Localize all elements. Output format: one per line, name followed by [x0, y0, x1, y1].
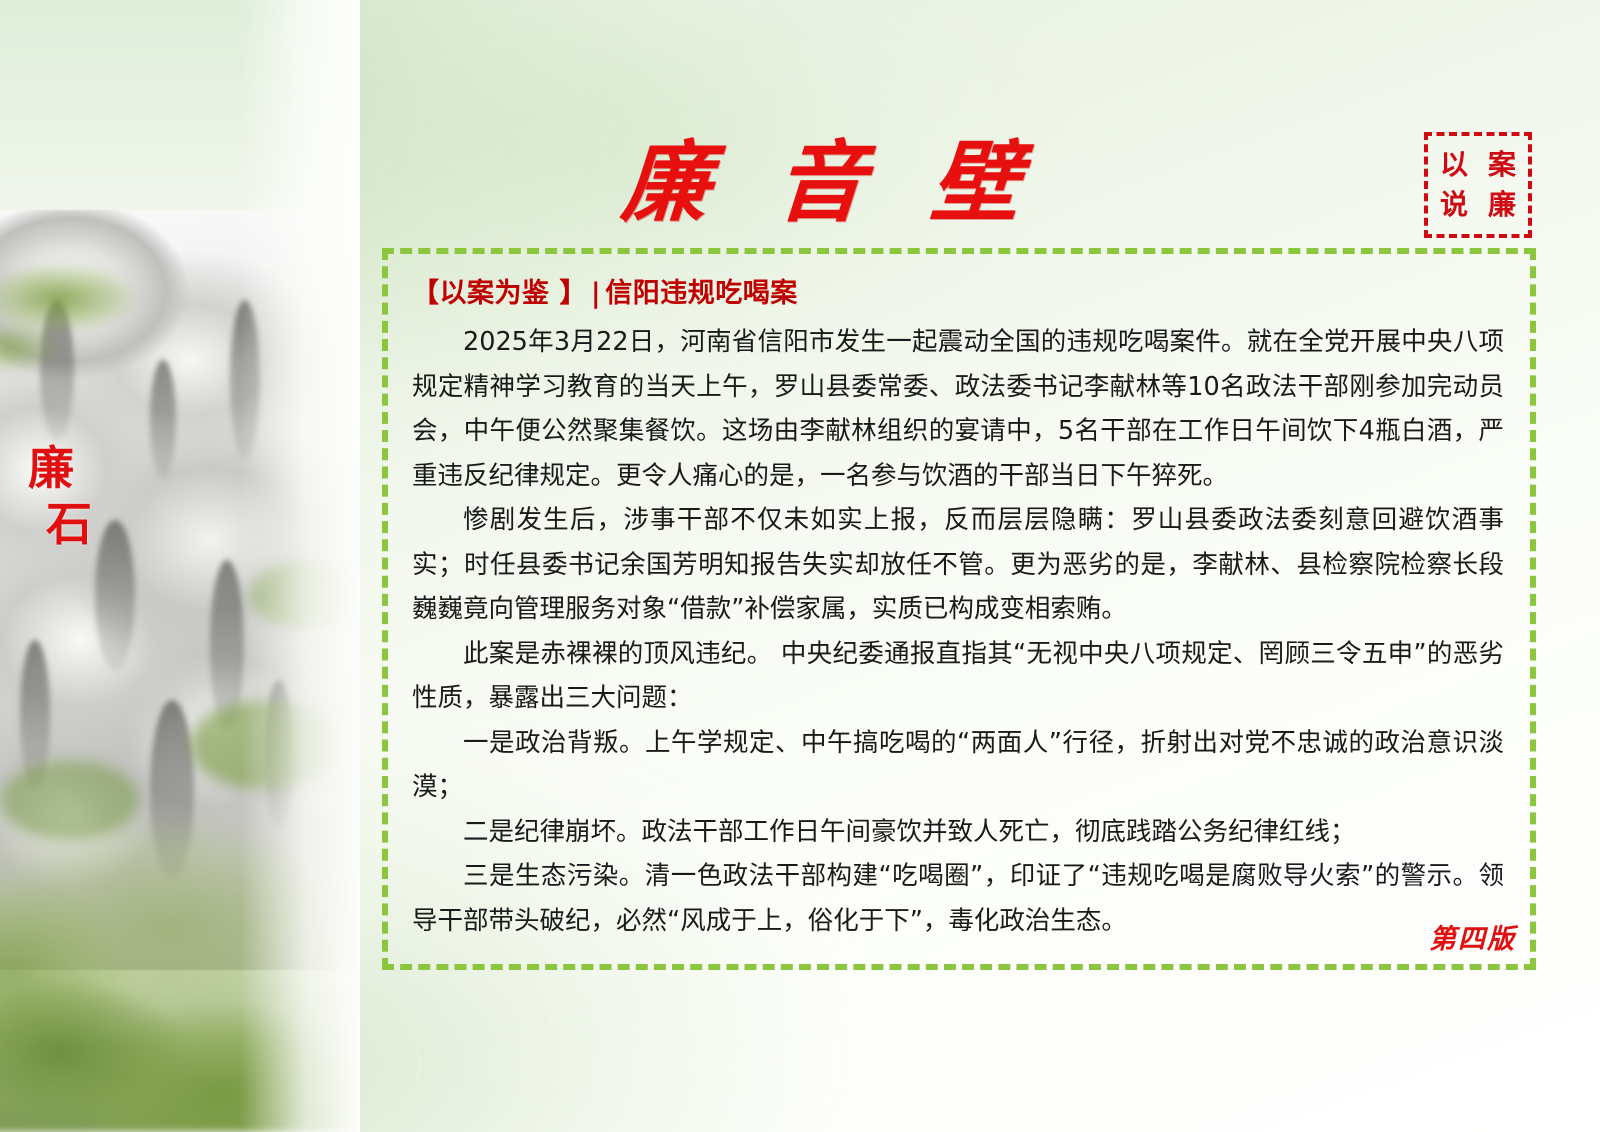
article-body: 2025年3月22日，河南省信阳市发生一起震动全国的违规吃喝案件。就在全党开展中…	[412, 320, 1504, 943]
edition-mark: 第四版	[1429, 924, 1516, 956]
article-headline-divider: |	[587, 278, 605, 309]
article-paragraph: 惨剧发生后，涉事干部不仅未如实上报，反而层层隐瞒：罗山县委政法委刻意回避饮酒事实…	[412, 498, 1504, 632]
seal-stamp: 以 案 说 廉	[1424, 132, 1532, 238]
rock-edge-fade	[240, 0, 360, 1132]
rock-inscription-char-1: 廉	[28, 440, 124, 496]
seal-char-3: 说	[1430, 185, 1478, 225]
article-paragraph: 三是生态污染。清一色政法干部构建“吃喝圈”，印证了“违规吃喝是腐败导火索”的警示…	[412, 854, 1504, 943]
seal-char-2: 案	[1478, 145, 1526, 185]
masthead: 廉 音 壁	[620, 128, 1040, 236]
article-headline-bracket: 【以案为鉴 】	[412, 278, 587, 309]
article-panel-inner: 【以案为鉴 】|信阳违规吃喝案 2025年3月22日，河南省信阳市发生一起震动全…	[388, 254, 1530, 964]
seal-char-4: 廉	[1478, 185, 1526, 225]
rock-inscription-char-2: 石	[46, 496, 124, 552]
article-paragraph: 2025年3月22日，河南省信阳市发生一起震动全国的违规吃喝案件。就在全党开展中…	[412, 320, 1504, 498]
grass-upper	[0, 238, 200, 388]
article-paragraph: 二是纪律崩坏。政法干部工作日午间豪饮并致人死亡，彻底践踏公务纪律红线；	[412, 810, 1504, 855]
poster-page: 廉 石 廉 音 壁 以 案 说 廉 【以案为鉴 】|信阳违规吃喝案 2025年3…	[0, 0, 1600, 1132]
rock-inscription: 廉 石	[28, 440, 124, 552]
article-paragraph: 此案是赤裸裸的顶风违纪。 中央纪委通报直指其“无视中央八项规定、罔顾三令五申”的…	[412, 632, 1504, 721]
article-headline: 【以案为鉴 】|信阳违规吃喝案	[412, 276, 1504, 312]
article-paragraph: 一是政治背叛。上午学规定、中午搞吃喝的“两面人”行径，折射出对党不忠诚的政治意识…	[412, 721, 1504, 810]
page-title: 廉 音 壁	[619, 136, 1041, 228]
seal-char-1: 以	[1430, 145, 1478, 185]
rock-photo-column: 廉 石	[0, 0, 360, 1132]
article-panel: 【以案为鉴 】|信阳违规吃喝案 2025年3月22日，河南省信阳市发生一起震动全…	[382, 248, 1536, 970]
article-headline-title: 信阳违规吃喝案	[605, 278, 798, 309]
